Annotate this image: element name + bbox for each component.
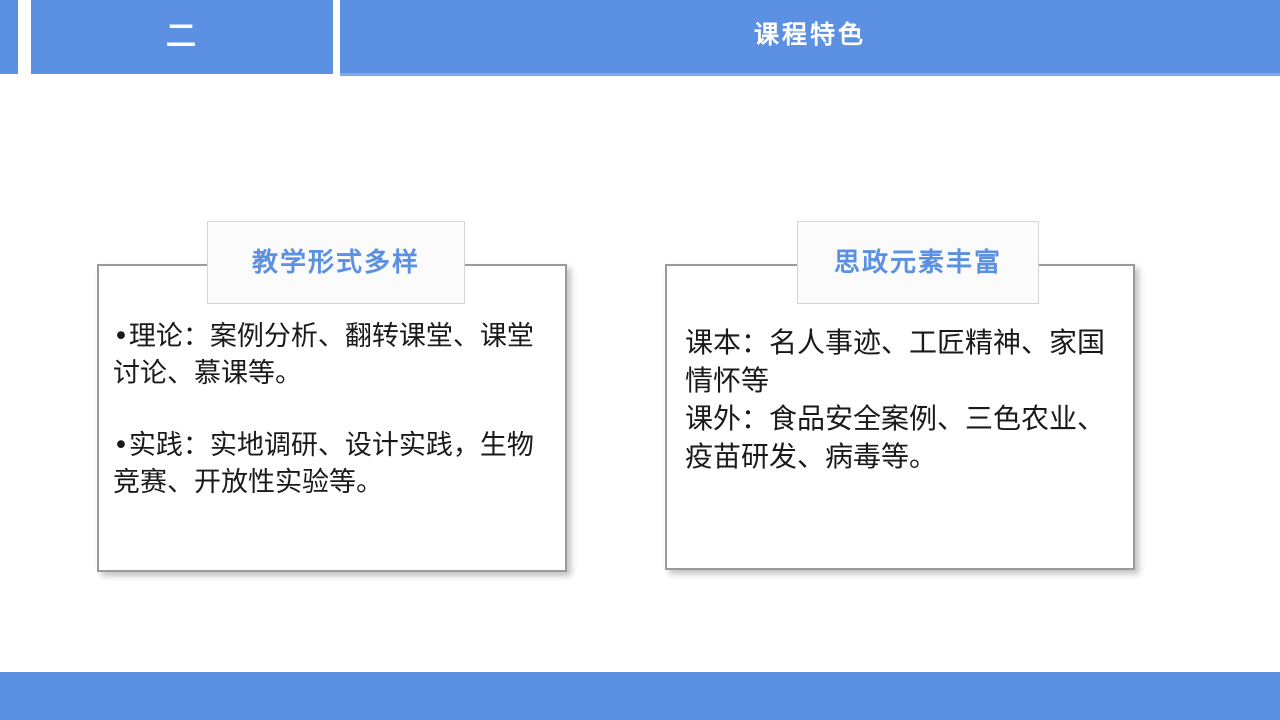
- card-paragraph: 课本：名人事迹、工匠精神、家国情怀等: [685, 324, 1123, 400]
- card-paragraph: 课外：食品安全案例、三色农业、疫苗研发、病毒等。: [685, 400, 1123, 476]
- section-number-box: 二: [31, 0, 333, 74]
- slide-header: 二 课程特色: [0, 0, 1280, 90]
- card-label-box: 思政元素丰富: [797, 221, 1039, 304]
- feature-card-teaching-forms: •理论：案例分析、翻转课堂、课堂讨论、慕课等。 •实践：实地调研、设计实践，生物…: [97, 264, 567, 572]
- slide-footer-bar: [0, 672, 1280, 720]
- card-body: 课本：名人事迹、工匠精神、家国情怀等 课外：食品安全案例、三色农业、疫苗研发、病…: [667, 266, 1133, 568]
- feature-card-ideological-elements: 课本：名人事迹、工匠精神、家国情怀等 课外：食品安全案例、三色农业、疫苗研发、病…: [665, 264, 1135, 570]
- card-label-text: 思政元素丰富: [834, 250, 1002, 276]
- card-label-box: 教学形式多样: [207, 221, 465, 304]
- card-paragraph: •理论：案例分析、翻转课堂、课堂讨论、慕课等。: [113, 318, 551, 393]
- card-label-text: 教学形式多样: [252, 250, 420, 276]
- card-body: •理论：案例分析、翻转课堂、课堂讨论、慕课等。 •实践：实地调研、设计实践，生物…: [99, 266, 565, 570]
- slide-title-bar: 课程特色: [340, 0, 1280, 76]
- slide-content: •理论：案例分析、翻转课堂、课堂讨论、慕课等。 •实践：实地调研、设计实践，生物…: [0, 90, 1280, 672]
- card-paragraph: •实践：实地调研、设计实践，生物竞赛、开放性实验等。: [113, 427, 551, 502]
- header-accent-strip: [0, 0, 18, 74]
- section-number-text: 二: [166, 22, 198, 52]
- slide-title-text: 课程特色: [754, 22, 866, 47]
